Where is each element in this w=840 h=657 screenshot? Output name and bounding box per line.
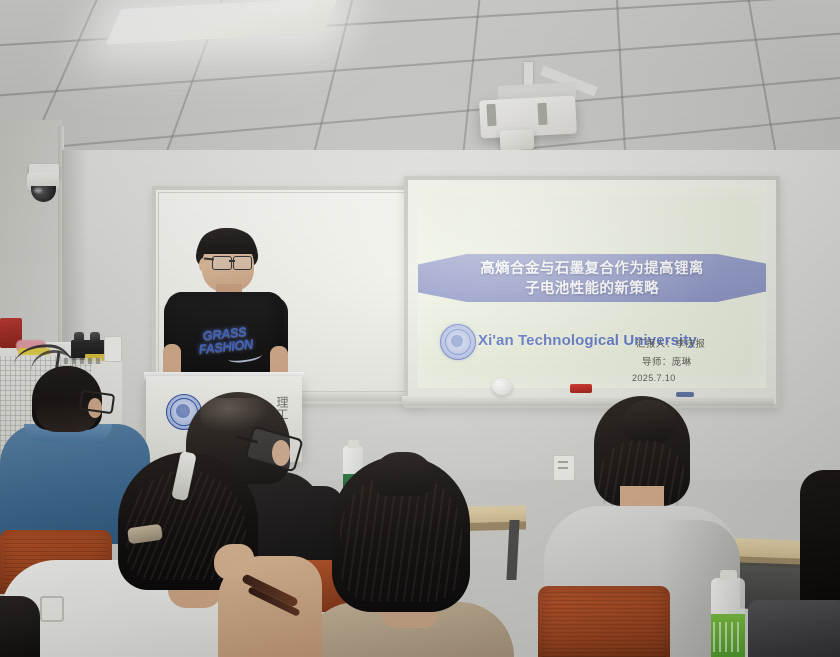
podium-seal-core: [176, 404, 190, 418]
presenter-ear: [199, 258, 208, 272]
projector-vent-right: [537, 103, 547, 125]
whiteboard-right-tray: [402, 396, 774, 406]
water-bottle-front-cap: [720, 570, 737, 580]
cabinet-warning-tape: [60, 358, 102, 364]
whiteboard-eraser[interactable]: [492, 378, 512, 395]
projected-slide: 高熵合金与石墨复合作为提高锂离 子电池性能的新策略 Xi'an Technolo…: [418, 186, 766, 388]
audience-gray-hair-bun: [622, 400, 676, 442]
amplifier-knob-right[interactable]: [90, 332, 100, 344]
amplifier-knob-left[interactable]: [74, 332, 84, 344]
water-bottle-front-label-text: [713, 622, 743, 652]
chair-mesh-right: [542, 592, 666, 657]
audience-tan-hair-bun: [372, 452, 434, 496]
audience-edge-left: [0, 596, 40, 657]
chair-dark-right[interactable]: [748, 600, 840, 657]
projector-lens: [499, 129, 534, 151]
wall-plate: [104, 336, 122, 362]
water-bottle-back-cap: [348, 440, 359, 448]
classroom-presentation-photo: 高熵合金与石墨复合作为提高锂离 子电池性能的新策略 Xi'an Technolo…: [0, 0, 840, 657]
glasses-bridge: [229, 260, 235, 262]
slide-glare: [418, 186, 766, 388]
glasses-lens-left: [212, 256, 232, 270]
table-leg: [506, 520, 519, 580]
white-top-logo: [40, 596, 64, 622]
audience-edge-right: [800, 470, 840, 600]
camera-lens-highlight: [34, 188, 42, 193]
projector-vent-left: [486, 104, 496, 126]
blue-marker[interactable]: [676, 392, 694, 397]
glasses-lens-right: [233, 256, 252, 270]
outlet-slot-upper: [558, 461, 568, 463]
presenter-hair-front: [198, 230, 256, 254]
red-marker[interactable]: [570, 384, 592, 393]
outlet-slot-lower: [558, 467, 568, 469]
